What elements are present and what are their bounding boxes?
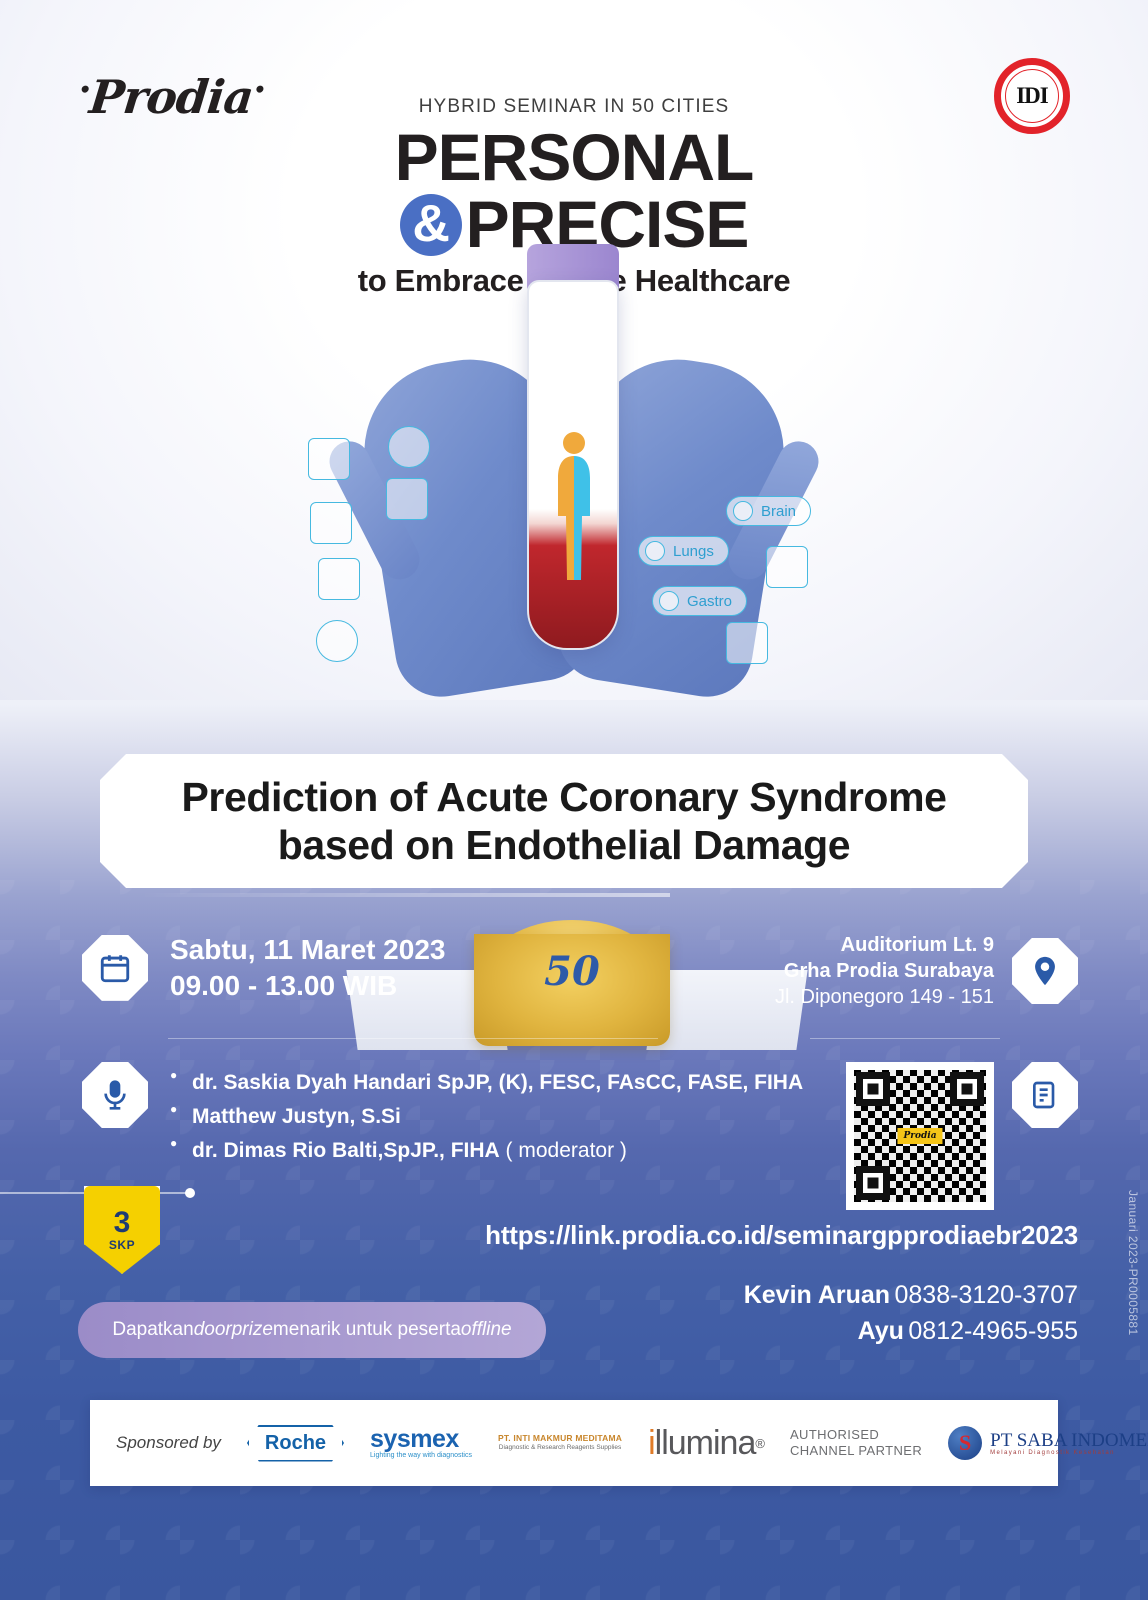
- registration-block: Prodia: [846, 1062, 1078, 1210]
- seminar-title-line1: Prediction of Acute Coronary Syndrome: [181, 773, 946, 821]
- event-time: 09.00 - 13.00 WIB: [170, 968, 445, 1004]
- acp-line2: CHANNEL PARTNER: [790, 1443, 922, 1459]
- sysmex-tagline: Lighting the way with diagnostics: [370, 1452, 472, 1459]
- lungs-icon: [645, 541, 665, 561]
- list-item: dr. Saskia Dyah Handari SpJP, (K), FESC,…: [170, 1066, 803, 1100]
- seminar-title: Prediction of Acute Coronary Syndrome ba…: [181, 773, 946, 870]
- qr-eye-top-right: [950, 1072, 984, 1106]
- organ-label-lungs: Lungs: [673, 543, 714, 560]
- sponsored-by-label: Sponsored by: [116, 1433, 221, 1453]
- sponsor-bar: Sponsored by Roche sysmex Lighting the w…: [90, 1400, 1058, 1486]
- illumina-rest: llumina: [655, 1424, 756, 1463]
- imm-name: PT. INTI MAKMUR MEDITAMA: [498, 1434, 622, 1444]
- imm-tagline: Diagnostic & Research Reagents Supplies: [498, 1444, 622, 1451]
- registration-form-icon: [1012, 1062, 1078, 1128]
- saba-name: PT SABA INDOMEDIKA: [990, 1431, 1148, 1450]
- skp-credit-badge: 3 SKP: [84, 1186, 160, 1274]
- list-item: Matthew Justyn, S.Si: [170, 1100, 803, 1134]
- speakers-list: dr. Saskia Dyah Handari SpJP, (K), FESC,…: [170, 1066, 803, 1168]
- human-body-icon: [552, 430, 596, 590]
- clipboard-icon: [318, 558, 360, 600]
- sponsor-logo-roche: Roche: [247, 1425, 344, 1462]
- contact-name: Kevin Aruan: [744, 1281, 890, 1309]
- sponsor-logo-saba-indomedika: S PT SABA INDOMEDIKA Melayani Diagnostik…: [948, 1426, 1148, 1460]
- organ-pill-brain: Brain: [726, 496, 811, 526]
- header-kicker: HYBRID SEMINAR IN 50 CITIES: [0, 96, 1148, 118]
- title-underline: [140, 893, 670, 897]
- seminar-title-banner: Prediction of Acute Coronary Syndrome ba…: [100, 754, 1028, 888]
- event-venue-text: Auditorium Lt. 9 Grha Prodia Surabaya Jl…: [775, 932, 994, 1010]
- divider-right: [810, 1038, 1000, 1039]
- syringe-icon: [766, 546, 808, 588]
- qr-eye-top-left: [856, 1072, 890, 1106]
- organ-pill-lungs: Lungs: [638, 536, 729, 566]
- speaker-name: Matthew Justyn, S.Si: [192, 1105, 401, 1128]
- skp-points: 3: [114, 1208, 131, 1238]
- doorprize-middle: menarik untuk peserta: [273, 1319, 461, 1341]
- contact-row: Kevin Aruan 0838-3120-3707: [744, 1278, 1078, 1314]
- contact-name: Ayu: [858, 1317, 904, 1345]
- brain-icon: [733, 501, 753, 521]
- organ-label-gastro: Gastro: [687, 593, 732, 610]
- illumina-registered: ®: [755, 1436, 764, 1451]
- event-datetime-text: Sabtu, 11 Maret 2023 09.00 - 13.00 WIB: [170, 932, 445, 1004]
- qr-center-logo: Prodia: [897, 1128, 942, 1144]
- sponsor-logo-sysmex: sysmex Lighting the way with diagnostics: [370, 1427, 472, 1459]
- speaker-name: dr. Saskia Dyah Handari SpJP, (K), FESC,…: [192, 1071, 803, 1094]
- organ-label-brain: Brain: [761, 503, 796, 520]
- contact-row: Ayu 0812-4965-955: [744, 1314, 1078, 1350]
- speaker-role: ( moderator ): [500, 1139, 627, 1162]
- divider-left: [168, 1038, 658, 1039]
- doorprize-banner: Dapatkan doorprize menarik untuk peserta…: [78, 1302, 546, 1358]
- location-pin-icon: [1012, 938, 1078, 1004]
- venue-address: Jl. Diponegoro 149 - 151: [775, 984, 994, 1010]
- sponsor-logo-illumina: illumina®: [648, 1424, 764, 1463]
- pill-icon: [308, 438, 350, 480]
- anniversary-number: 50: [484, 948, 660, 995]
- heartbeat-icon: [386, 478, 428, 520]
- skp-shield-icon: 3 SKP: [84, 1186, 160, 1274]
- seminar-title-line2: based on Endothelial Damage: [181, 821, 946, 869]
- authorised-channel-partner-label: AUTHORISED CHANNEL PARTNER: [790, 1427, 922, 1460]
- hero-illustration: Brain Lungs Gastro 50: [0, 280, 1148, 760]
- calendar-icon: [82, 935, 148, 1001]
- sponsor-logo-inti-makmur-meditama: PT. INTI MAKMUR MEDITAMA Diagnostic & Re…: [498, 1434, 622, 1451]
- gastro-icon: [659, 591, 679, 611]
- speakers-block: dr. Saskia Dyah Handari SpJP, (K), FESC,…: [82, 1062, 803, 1168]
- contact-phone[interactable]: 0838-3120-3707: [895, 1281, 1079, 1309]
- speaker-name: dr. Dimas Rio Balti,SpJP., FIHA: [192, 1139, 500, 1162]
- doorprize-em1: doorprize: [194, 1319, 273, 1341]
- skp-unit: SKP: [109, 1238, 135, 1252]
- doorprize-em2: offline: [461, 1319, 512, 1341]
- cross-pin-icon: [316, 620, 358, 662]
- saba-mark-icon: S: [948, 1426, 982, 1460]
- contact-block: Kevin Aruan 0838-3120-3707 Ayu 0812-4965…: [744, 1278, 1078, 1349]
- qr-pattern: Prodia: [854, 1070, 986, 1202]
- venue-room: Auditorium Lt. 9: [775, 932, 994, 958]
- capsule-icon: [388, 426, 430, 468]
- registration-qr-code[interactable]: Prodia: [846, 1062, 994, 1210]
- event-venue-block: Auditorium Lt. 9 Grha Prodia Surabaya Jl…: [775, 932, 1078, 1010]
- monitor-icon: [310, 502, 352, 544]
- header-title-personal: PERSONAL: [0, 124, 1148, 191]
- acp-line1: AUTHORISED: [790, 1427, 922, 1443]
- organ-pill-gastro: Gastro: [652, 586, 747, 616]
- venue-building: Grha Prodia Surabaya: [775, 958, 994, 984]
- hospital-bed-icon: [726, 622, 768, 664]
- sysmex-wordmark: sysmex: [370, 1425, 459, 1453]
- doorprize-prefix: Dapatkan: [112, 1319, 193, 1341]
- registration-url[interactable]: https://link.prodia.co.id/seminargpprodi…: [485, 1220, 1078, 1251]
- qr-eye-bottom-left: [856, 1166, 890, 1200]
- ampersand-badge: &: [400, 194, 462, 256]
- seminar-poster: •Prodia• IDI HYBRID SEMINAR IN 50 CITIES…: [0, 0, 1148, 1600]
- event-date: Sabtu, 11 Maret 2023: [170, 932, 445, 968]
- event-datetime-block: Sabtu, 11 Maret 2023 09.00 - 13.00 WIB: [82, 932, 445, 1004]
- list-item: dr. Dimas Rio Balti,SpJP., FIHA ( modera…: [170, 1134, 803, 1168]
- microphone-icon: [82, 1062, 148, 1128]
- document-code: Januari 2023-PR0005881: [1126, 1190, 1140, 1336]
- contact-phone[interactable]: 0812-4965-955: [908, 1317, 1078, 1345]
